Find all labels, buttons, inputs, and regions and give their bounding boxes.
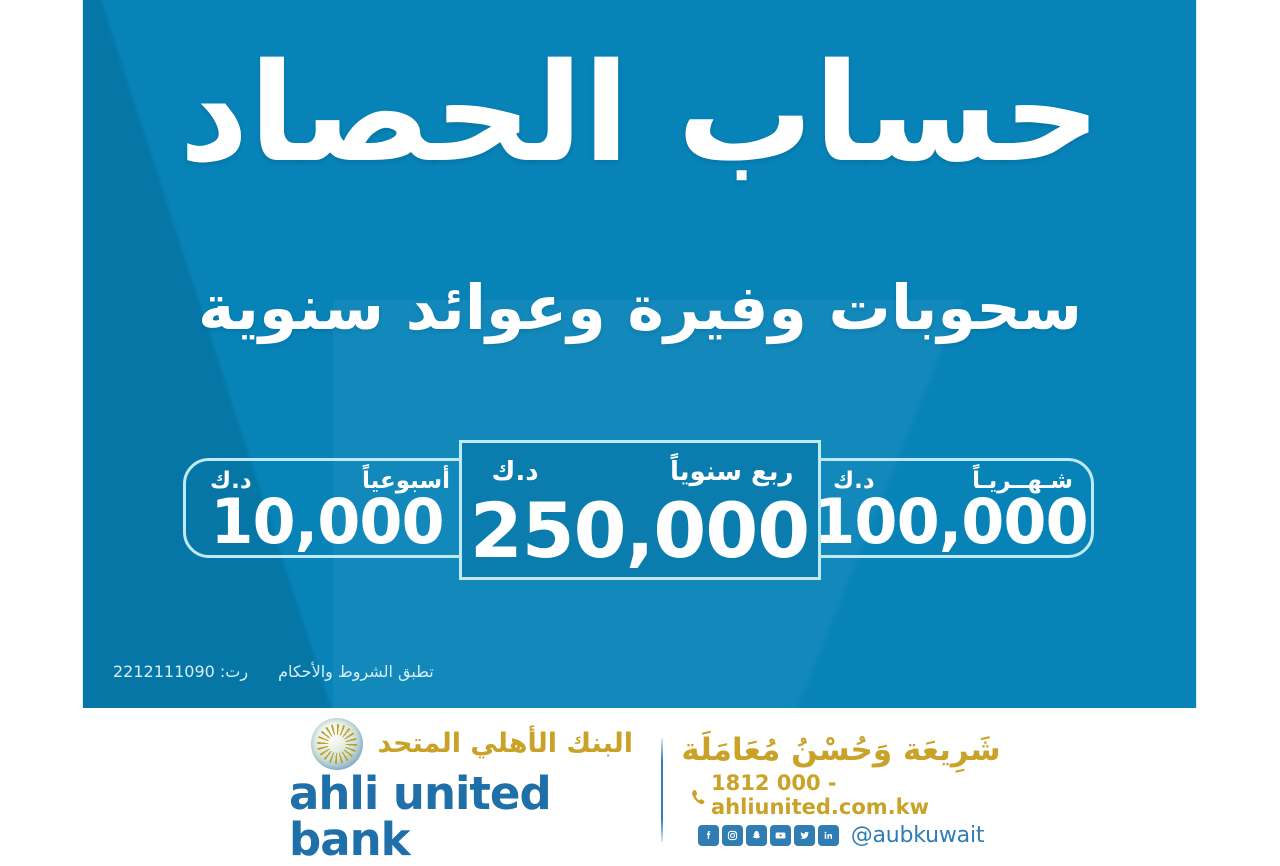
prize-amount-weekly: 10,000: [186, 491, 468, 553]
phone-icon: [691, 787, 706, 804]
social-links: @aubkuwait: [698, 823, 985, 848]
sunburst-globe-icon: [311, 718, 363, 770]
prize-currency-quarterly: د.ك: [492, 457, 539, 487]
terms-and-conditions-text: تطبق الشروط والأحكام: [278, 662, 434, 681]
registration-number: رت: 2212111090: [113, 662, 248, 681]
prize-box-weekly: أسبوعياً د.ك 10,000: [183, 458, 471, 558]
instagram-icon[interactable]: [722, 825, 743, 846]
prize-boxes-row: أسبوعياً د.ك 10,000 شـهــريـاً د.ك 100,0…: [83, 440, 1196, 595]
prize-box-monthly: شـهــريـاً د.ك 100,000: [806, 458, 1094, 558]
phone-and-website[interactable]: 1812 000 - ahliunited.com.kw: [691, 771, 991, 819]
footer-divider: [661, 738, 663, 842]
twitter-icon[interactable]: [794, 825, 815, 846]
prize-amount-quarterly: 250,000: [462, 493, 818, 569]
bank-name-latin: ahli united bank: [289, 771, 633, 863]
youtube-icon[interactable]: [770, 825, 791, 846]
phone-website-text: 1812 000 - ahliunited.com.kw: [711, 771, 991, 819]
advertisement-canvas: حساب الحصاد سحوبات وفيرة وعوائد سنوية أس…: [0, 0, 1280, 864]
page-subtitle: سحوبات وفيرة وعوائد سنوية: [0, 274, 1280, 342]
prize-amount-monthly: 100,000: [809, 491, 1091, 553]
prize-box-quarterly: ربع سنوياً د.ك 250,000: [459, 440, 821, 580]
contact-block: شَرِيعَة وَحُسْنُ مُعَامَلَة 1812 000 - …: [691, 732, 991, 848]
page-title: حساب الحصاد: [0, 46, 1280, 182]
bank-name-arabic: البنك الأهلي المتحد: [377, 728, 633, 759]
linkedin-icon[interactable]: [818, 825, 839, 846]
prize-label-quarterly: ربع سنوياً: [670, 457, 794, 487]
social-handle-text[interactable]: @aubkuwait: [851, 823, 985, 848]
footer: البنك الأهلي المتحد ahli united bank شَر…: [0, 708, 1280, 864]
snapchat-icon[interactable]: [746, 825, 767, 846]
fine-print: تطبق الشروط والأحكام رت: 2212111090: [113, 662, 434, 681]
bank-slogan-arabic: شَرِيعَة وَحُسْنُ مُعَامَلَة: [681, 732, 1000, 768]
bank-logo: البنك الأهلي المتحد ahli united bank: [289, 718, 633, 863]
facebook-icon[interactable]: [698, 825, 719, 846]
sunburst-rays-icon: [317, 724, 357, 764]
